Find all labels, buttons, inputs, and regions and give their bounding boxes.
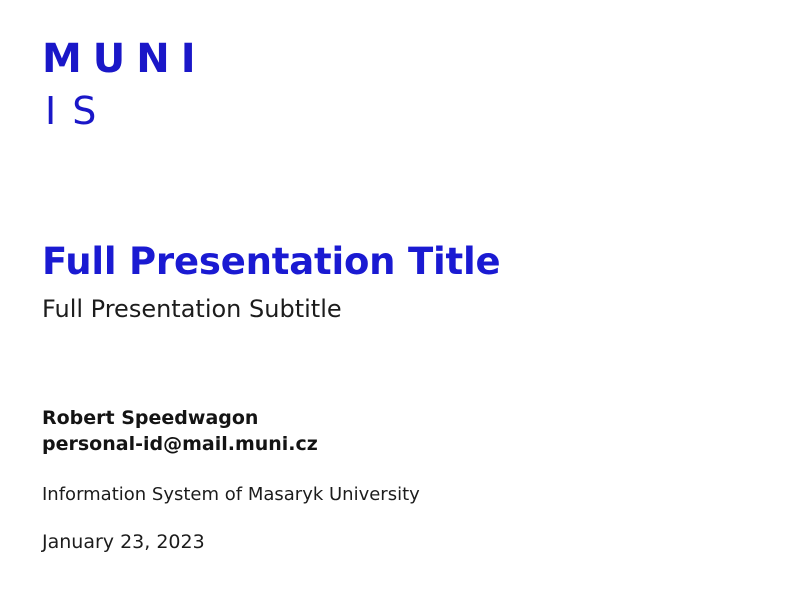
affiliation-text: Information System of Masaryk University <box>42 483 742 507</box>
author-name: Robert Speedwagon <box>42 405 742 431</box>
page-subtitle: Full Presentation Subtitle <box>42 293 742 325</box>
presentation-title-slide: MUNI IS Full Presentation Title Full Pre… <box>0 0 794 596</box>
presentation-date: January 23, 2023 <box>42 529 742 555</box>
logo-muni-text: MUNI <box>42 36 207 82</box>
author-meta-block: Robert Speedwagon personal-id@mail.muni.… <box>42 405 742 555</box>
logo-is-text: IS <box>42 89 207 133</box>
page-title: Full Presentation Title <box>42 240 742 284</box>
muni-is-logo: MUNI IS <box>42 36 207 133</box>
author-email: personal-id@mail.muni.cz <box>42 431 742 457</box>
title-block: Full Presentation Title Full Presentatio… <box>42 240 742 325</box>
